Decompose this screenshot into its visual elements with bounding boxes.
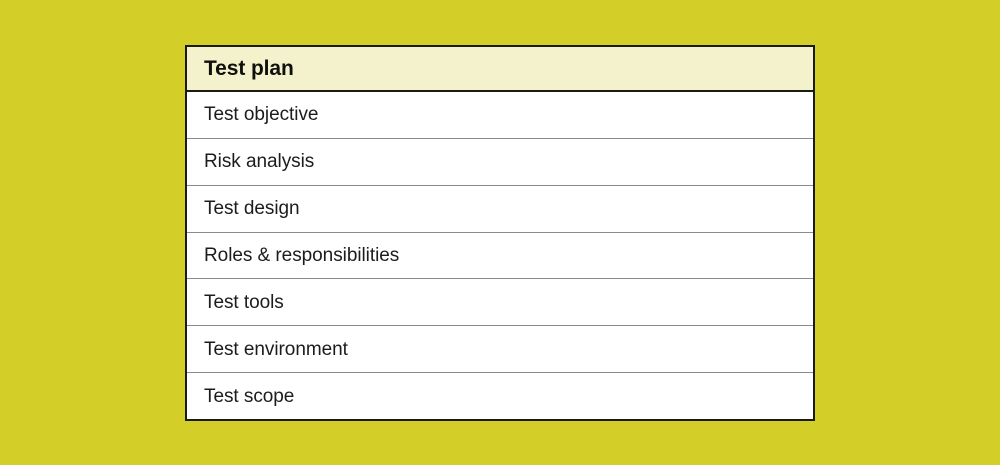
row-label-risk-analysis: Risk analysis (187, 152, 314, 171)
table-row: Test objective (187, 92, 813, 139)
table-row: Test tools (187, 279, 813, 326)
row-label-roles-responsibilities: Roles & responsibilities (187, 246, 399, 265)
diagram-canvas: Test plan Test objective Risk analysis T… (0, 0, 1000, 465)
table-row: Roles & responsibilities (187, 233, 813, 280)
row-label-test-objective: Test objective (187, 105, 318, 124)
row-label-test-environment: Test environment (187, 340, 348, 359)
row-label-test-scope: Test scope (187, 387, 294, 406)
row-label-test-tools: Test tools (187, 293, 284, 312)
row-label-test-design: Test design (187, 199, 300, 218)
table-row: Test design (187, 186, 813, 233)
table-header-title: Test plan (187, 58, 294, 79)
table-row: Test environment (187, 326, 813, 373)
table-row: Test scope (187, 373, 813, 419)
test-plan-table: Test plan Test objective Risk analysis T… (185, 45, 815, 421)
table-row: Risk analysis (187, 139, 813, 186)
table-header-row: Test plan (187, 47, 813, 92)
table-body: Test objective Risk analysis Test design… (187, 92, 813, 419)
